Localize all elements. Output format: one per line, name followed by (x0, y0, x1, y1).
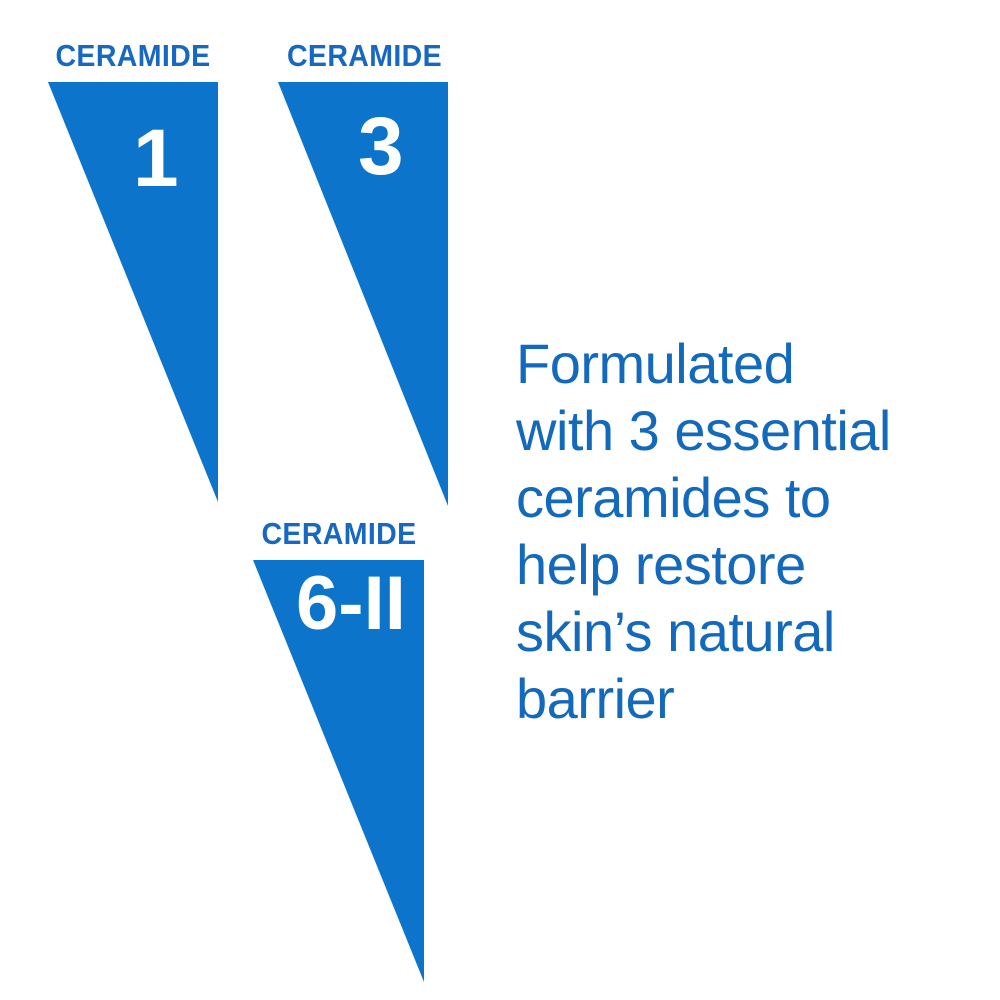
infographic-canvas: CERAMIDE 1 CERAMIDE 3 CERAMIDE 6-II Form… (0, 0, 1000, 1000)
ceramide-number-1: 1 (133, 118, 178, 200)
ceramide-number-6-ii: 6-II (296, 566, 406, 642)
marketing-copy: Formulated with 3 essential ceramides to… (516, 330, 966, 732)
ceramide-label-3: CERAMIDE (244, 516, 434, 552)
ceramide-number-3: 3 (358, 106, 403, 188)
ceramide-label-1: CERAMIDE (38, 38, 228, 74)
ceramide-label-2: CERAMIDE (270, 38, 459, 74)
